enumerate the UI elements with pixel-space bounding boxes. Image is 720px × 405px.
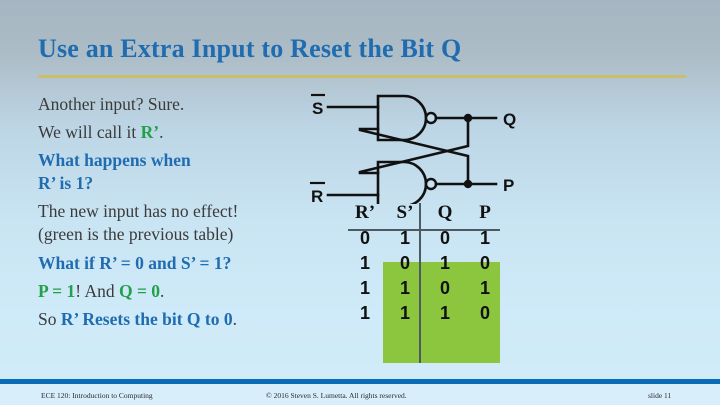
cell-r1c3: 0 — [465, 251, 505, 276]
cell-r1c1: 0 — [385, 251, 425, 276]
table-row: 0 1 0 1 — [345, 226, 505, 251]
cell-r3c1: 1 — [385, 301, 425, 326]
result-conjunction: ! And — [75, 281, 119, 301]
text-line-2-emphasis: R’ — [141, 122, 159, 142]
truth-table: R’ S’ Q P 0 1 0 1 1 0 1 0 1 1 0 1 — [345, 200, 505, 368]
q-junction-dot — [464, 114, 472, 122]
footer-copyright: © 2016 Steven S. Lumetta. All rights res… — [266, 391, 407, 400]
table-row: 1 1 1 0 — [345, 301, 505, 326]
truth-table-grid: R’ S’ Q P 0 1 0 1 1 0 1 0 1 1 0 1 — [345, 200, 505, 326]
page-title: Use an Extra Input to Reset the Bit Q — [38, 34, 461, 64]
text-line-2-prefix: We will call it — [38, 122, 141, 142]
cell-r0c0: 0 — [345, 226, 385, 251]
effect-line-2: (green is the previous table) — [38, 223, 328, 246]
cell-r2c3: 1 — [465, 276, 505, 301]
column-header-rprime: R’ — [345, 200, 385, 226]
cell-r1c2: 1 — [425, 251, 465, 276]
question-line-1: What happens when — [38, 149, 328, 172]
cell-r1c0: 1 — [345, 251, 385, 276]
question-line-2: R’ is 1? — [38, 172, 328, 195]
top-nand-gate-body — [378, 96, 426, 140]
body-text-block: Another input? Sure. We will call it R’.… — [38, 93, 328, 336]
cell-r3c0: 1 — [345, 301, 385, 326]
footer: ECE 120: Introduction to Computing © 201… — [0, 384, 720, 405]
bottom-nand-gate-body — [378, 162, 426, 204]
footer-course-name: ECE 120: Introduction to Computing — [41, 391, 153, 400]
result-line: P = 1! And Q = 0. — [38, 280, 328, 303]
text-line-1: Another input? Sure. — [38, 93, 328, 116]
title-divider — [38, 75, 686, 78]
conclusion-prefix: So — [38, 309, 61, 329]
question-line-1-content: What happens when — [38, 150, 191, 170]
p-junction-dot — [464, 180, 472, 188]
conclusion-suffix: . — [233, 309, 237, 329]
cell-r3c3: 0 — [465, 301, 505, 326]
conclusion-line: So R’ Resets the bit Q to 0. — [38, 308, 328, 331]
cell-r2c2: 0 — [425, 276, 465, 301]
effect-line-1: The new input has no effect! — [38, 200, 328, 223]
conclusion-emphasis: R’ Resets the bit Q to 0 — [61, 309, 233, 329]
result-q-value: Q = 0 — [119, 281, 160, 301]
p-output-label: P — [503, 176, 514, 195]
text-line-2-suffix: . — [159, 122, 163, 142]
nand-latch-circuit-diagram: S R Q P — [300, 84, 530, 204]
cell-r2c0: 1 — [345, 276, 385, 301]
footer-slide-number: slide 11 — [648, 391, 671, 400]
rbar-label: R — [310, 183, 325, 204]
table-row: 1 0 1 0 — [345, 251, 505, 276]
q-output-label: Q — [503, 110, 516, 129]
truth-table-header-row: R’ S’ Q P — [345, 200, 505, 226]
question-line-3-content: What if R’ = 0 and S’ = 1? — [38, 253, 231, 273]
effect-line-2-content: (green is the previous table) — [38, 224, 233, 244]
slide-canvas: Use an Extra Input to Reset the Bit Q An… — [0, 0, 720, 405]
cell-r3c2: 1 — [425, 301, 465, 326]
text-line-2: We will call it R’. — [38, 121, 328, 144]
question-line-2-content: R’ is 1? — [38, 173, 93, 193]
top-nand-inversion-bubble — [426, 113, 436, 123]
column-header-sprime: S’ — [385, 200, 425, 226]
cell-r0c2: 0 — [425, 226, 465, 251]
result-period: . — [160, 281, 164, 301]
column-header-q: Q — [425, 200, 465, 226]
svg-text:R: R — [311, 187, 323, 204]
sbar-label: S — [311, 95, 325, 118]
svg-text:S: S — [312, 99, 323, 118]
cell-r0c1: 1 — [385, 226, 425, 251]
table-row: 1 1 0 1 — [345, 276, 505, 301]
cell-r0c3: 1 — [465, 226, 505, 251]
bottom-nand-inversion-bubble — [426, 179, 436, 189]
cell-r2c1: 1 — [385, 276, 425, 301]
column-header-p: P — [465, 200, 505, 226]
question-line-3: What if R’ = 0 and S’ = 1? — [38, 252, 328, 275]
text-line-1-content: Another input? Sure. — [38, 94, 184, 114]
effect-line-1-content: The new input has no effect! — [38, 201, 238, 221]
result-p-value: P = 1 — [38, 281, 75, 301]
